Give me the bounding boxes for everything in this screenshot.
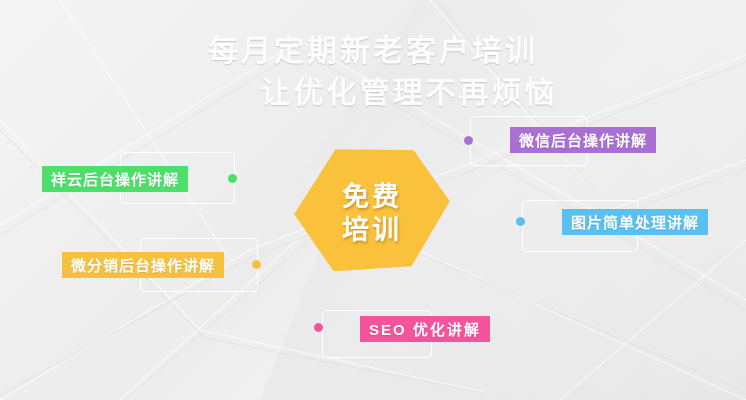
topic-label-tupian[interactable]: 图片简单处理讲解 — [562, 209, 708, 235]
node-dot-seo — [314, 323, 323, 332]
node-dot-tupian — [516, 217, 525, 226]
page-subtitle: 让优化管理不再烦恼 — [0, 68, 746, 112]
topic-label-weifenxiao[interactable]: 微分销后台操作讲解 — [62, 252, 224, 278]
page-title: 每月定期新老客户培训 — [0, 26, 746, 70]
node-dot-xiangyun — [228, 174, 237, 183]
node-dot-weifenxiao — [252, 260, 261, 269]
center-hexagon — [292, 145, 452, 272]
poster-canvas: 每月定期新老客户培训 让优化管理不再烦恼 祥云后台操作讲解 微分销后台操作讲解 … — [0, 0, 746, 400]
topic-label-xiangyun[interactable]: 祥云后台操作讲解 — [42, 166, 188, 192]
topic-label-weixin[interactable]: 微信后台操作讲解 — [510, 127, 656, 153]
topic-label-seo[interactable]: SEO 优化讲解 — [360, 316, 490, 342]
node-dot-weixin — [464, 136, 473, 145]
